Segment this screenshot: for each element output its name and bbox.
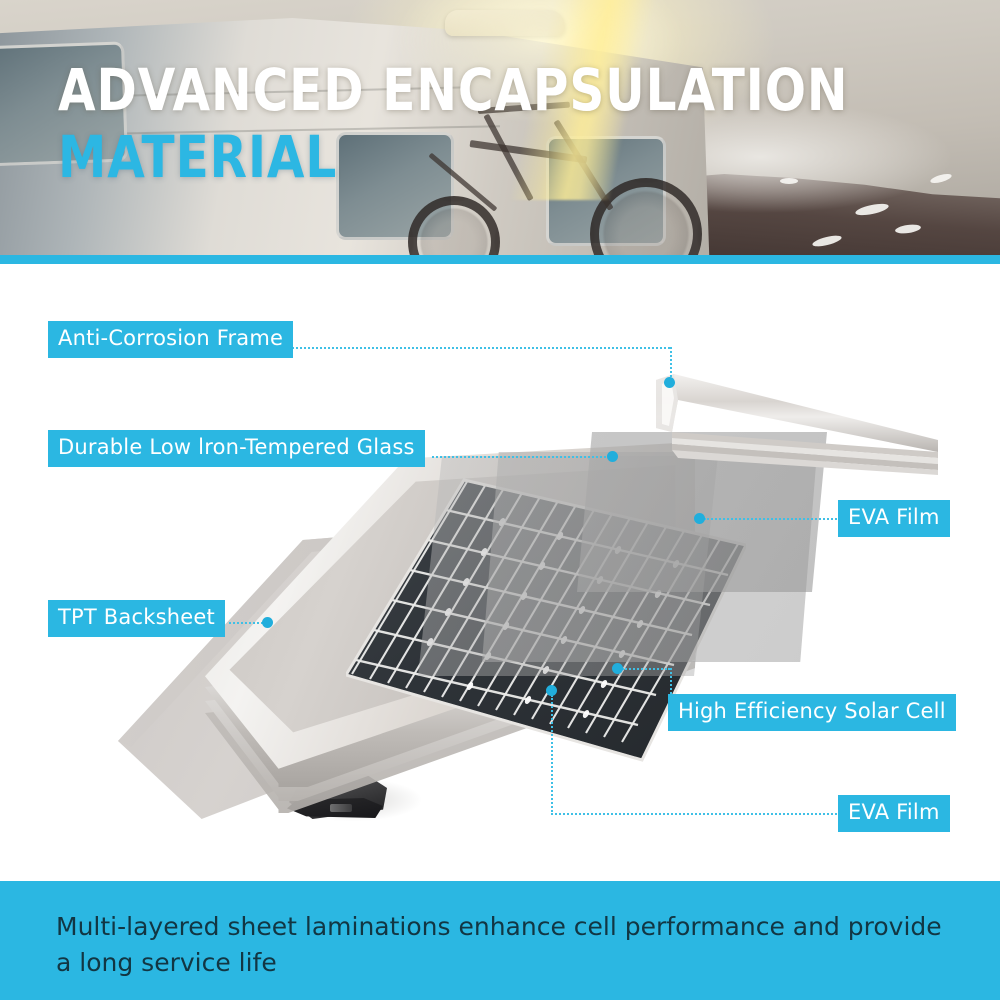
callout-eva-film-lower[interactable]: EVA Film: [838, 795, 950, 832]
hero-title-line1: ADVANCED ENCAPSULATION: [58, 62, 848, 119]
footer-caption-bar: Multi-layered sheet laminations enhance …: [0, 881, 1000, 1000]
leader-line-eva-film-lower-vertical: [551, 695, 553, 815]
leader-dot-icon: [262, 617, 273, 628]
hero-accent-rule: [0, 255, 1000, 264]
callout-durable-low-iron-tempered-glass[interactable]: Durable Low lron-Tempered Glass: [48, 430, 425, 467]
leader-dot-icon: [612, 663, 623, 674]
footer-caption-text: Multi-layered sheet laminations enhance …: [56, 909, 956, 982]
page-title: ADVANCED ENCAPSULATION MATERIAL: [58, 62, 908, 186]
hero-banner: ADVANCED ENCAPSULATION MATERIAL: [0, 0, 1000, 255]
leader-dot-icon: [664, 377, 675, 388]
leader-line-solar-cell: [622, 668, 670, 670]
leader-line-eva-film-upper: [704, 518, 840, 520]
leader-dot-icon: [607, 451, 618, 462]
leader-dot-icon: [694, 513, 705, 524]
infographic-page: ADVANCED ENCAPSULATION MATERIAL: [0, 0, 1000, 1000]
junction-box-gland: [330, 804, 352, 812]
callout-tpt-backsheet[interactable]: TPT Backsheet: [48, 600, 225, 637]
exploded-view-diagram: Anti-Corrosion Frame Durable Low lron-Te…: [0, 264, 1000, 875]
leader-line-anti-corrosion-frame: [292, 347, 670, 349]
hero-title-line2: MATERIAL: [58, 129, 848, 186]
leader-line-anti-corrosion-frame-vertical: [670, 347, 672, 381]
leader-dot-icon: [546, 685, 557, 696]
leader-line-glass: [432, 456, 614, 458]
anti-corrosion-frame-extrusion: [638, 374, 950, 484]
callout-high-efficiency-solar-cell[interactable]: High Efficiency Solar Cell: [668, 694, 956, 731]
callout-eva-film-upper[interactable]: EVA Film: [838, 500, 950, 537]
callout-anti-corrosion-frame[interactable]: Anti-Corrosion Frame: [48, 321, 293, 358]
leader-line-eva-film-lower: [551, 813, 841, 815]
